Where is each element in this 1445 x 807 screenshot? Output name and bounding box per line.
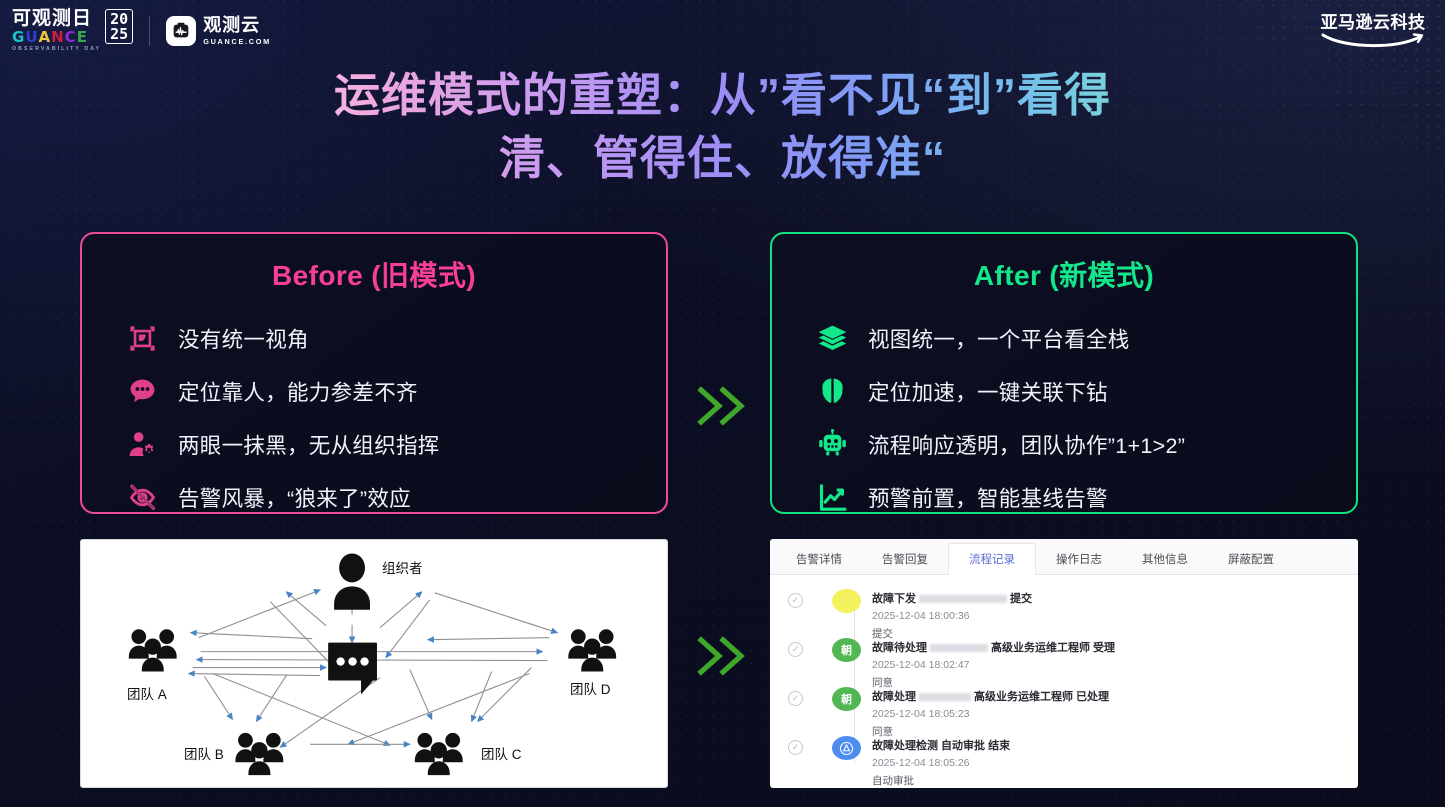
diagram-label-organizer: 组织者 (382, 557, 423, 577)
list-item-label: 视图统一，一个平台看全栈 (868, 323, 1130, 354)
alert-detail-tabs[interactable]: 告警详情 告警回复 流程记录 操作日志 其他信息 屏蔽配置 (770, 539, 1358, 575)
avatar (832, 736, 861, 760)
timeline-item-title: 故障待处理高级业务运维工程师 受理 (872, 639, 1115, 655)
timeline-item-time: 2025-12-04 18:02:47 (872, 659, 1115, 671)
team-communication-diagram: 组织者 团队 A 团队 B 团队 C 团队 D (80, 539, 668, 788)
before-card: Before (旧模式) 没有统一视角 (80, 232, 668, 514)
brand-letter-n: N (51, 30, 64, 45)
tab-process-records[interactable]: 流程记录 (948, 543, 1036, 575)
tab-mute-config[interactable]: 屏蔽配置 (1208, 544, 1294, 574)
timeline-title-pre: 故障下发 (872, 593, 916, 605)
list-item: 定位加速，一键关联下钻 (816, 365, 1356, 418)
avatar: 朝 (832, 638, 861, 662)
page-title-line2: 清、管得住、放得准“ (120, 127, 1325, 190)
timeline-item-time: 2025-12-04 18:00:36 (872, 610, 1032, 622)
chat-bubble-icon (126, 375, 178, 408)
timeline-item: ✓ 朝 故障待处理高级业务运维工程师 受理 2025-12-04 18:02:4… (832, 639, 1358, 688)
list-item: 没有统一视角 (126, 312, 666, 365)
diagram-label-team-d: 团队 D (570, 678, 611, 698)
observability-day-logo: 可观测日 G U A N C E OBSERVABILITY DAY 20 25 (12, 9, 133, 52)
brand-letter-a: A (39, 30, 51, 45)
check-circle-icon: ✓ (788, 642, 803, 657)
after-card-title: After (新模式) (772, 254, 1356, 294)
list-item-label: 流程响应透明，团队协作”1+1>2” (868, 429, 1185, 460)
timeline-title-post: 高级业务运维工程师 已处理 (974, 691, 1109, 703)
event-year-badge: 20 25 (105, 9, 133, 44)
list-item: 两眼一抹黑，无从组织指挥 (126, 418, 666, 471)
list-item-label: 告警风暴，“狼来了”效应 (178, 482, 411, 513)
aws-smile-icon (1317, 32, 1429, 50)
list-item: 流程响应透明，团队协作”1+1>2” (816, 418, 1356, 471)
double-chevron-right-icon (688, 375, 752, 437)
page-title: 运维模式的重塑：从”看不见“到”看得 清、管得住、放得准“ (0, 64, 1445, 191)
guance-mark-icon (166, 16, 196, 46)
redacted-name (930, 644, 988, 652)
timeline-item-time: 2025-12-04 18:05:26 (872, 757, 1010, 769)
diagram-svg (81, 540, 667, 788)
list-item: 告警风暴，“狼来了”效应 (126, 471, 666, 524)
aws-china-logo: 亚马逊云科技 (1317, 14, 1429, 55)
list-item: 定位靠人，能力参差不齐 (126, 365, 666, 418)
timeline-title-pre: 故障待处理 (872, 642, 927, 654)
list-item-label: 两眼一抹黑，无从组织指挥 (178, 429, 440, 460)
guance-logo-en: GUANCE.COM (203, 37, 271, 46)
before-card-list: 没有统一视角 定位靠人，能力参差不齐 (82, 312, 666, 524)
list-item-label: 定位加速，一键关联下钻 (868, 376, 1108, 407)
event-year-bottom: 25 (110, 27, 128, 42)
timeline-title-pre: 故障处理 (872, 691, 916, 703)
timeline-item-title: 故障处理检测 自动审批 结束 (872, 737, 1010, 753)
auto-approve-icon (838, 740, 855, 757)
brand-letter-g: G (12, 30, 24, 45)
redacted-name (919, 595, 1007, 603)
before-card-title: Before (旧模式) (82, 254, 666, 294)
timeline-item-action: 自动审批 (872, 773, 1010, 788)
eye-off-icon (126, 481, 178, 514)
tab-operation-logs[interactable]: 操作日志 (1036, 544, 1122, 574)
brain-icon (816, 375, 868, 408)
check-circle-icon: ✓ (788, 593, 803, 608)
aws-logo-cn: 亚马逊云科技 (1317, 14, 1429, 31)
timeline-item: ✓ 故障下发提交 2025-12-04 18:00:36 提交 (832, 590, 1358, 639)
tab-alert-details[interactable]: 告警详情 (776, 544, 862, 574)
avatar (832, 589, 861, 613)
event-logo-brand-letters: G U A N C E (12, 30, 101, 45)
check-circle-icon: ✓ (788, 691, 803, 706)
logo-divider (149, 16, 150, 46)
timeline-item: ✓ 朝 故障处理高级业务运维工程师 已处理 2025-12-04 18:05:2… (832, 688, 1358, 737)
check-circle-icon: ✓ (788, 740, 803, 755)
robot-icon (816, 428, 868, 461)
alert-detail-screenshot: 告警详情 告警回复 流程记录 操作日志 其他信息 屏蔽配置 ✓ 故障下发提交 2… (770, 539, 1358, 788)
page-title-line1: 运维模式的重塑：从”看不见“到”看得 (334, 69, 1111, 121)
diagram-label-team-b: 团队 B (184, 743, 224, 763)
timeline-item-title: 故障下发提交 (872, 590, 1032, 606)
slide-header: 可观测日 G U A N C E OBSERVABILITY DAY 20 25 (0, 0, 1445, 62)
chat-bubble-icon (328, 643, 377, 695)
list-item-label: 预警前置，智能基线告警 (868, 482, 1108, 513)
frame-crop-icon (126, 322, 178, 355)
brand-letter-e: E (77, 30, 87, 45)
after-card-list: 视图统一，一个平台看全栈 定位加速，一键关联下钻 (772, 312, 1356, 524)
double-chevron-right-icon (688, 625, 752, 687)
slide-background: 可观测日 G U A N C E OBSERVABILITY DAY 20 25 (0, 0, 1445, 807)
brand-letter-c: C (65, 30, 76, 45)
after-card: After (新模式) 视图统一，一个平台看全栈 (770, 232, 1358, 514)
avatar: 朝 (832, 687, 861, 711)
list-item-label: 没有统一视角 (178, 323, 309, 354)
timeline-item-title: 故障处理高级业务运维工程师 已处理 (872, 688, 1109, 704)
brand-letter-u: U (25, 30, 37, 45)
list-item: 视图统一，一个平台看全栈 (816, 312, 1356, 365)
timeline-item-time: 2025-12-04 18:05:23 (872, 708, 1109, 720)
person-icon (334, 553, 370, 609)
redacted-name (919, 693, 971, 701)
process-timeline: ✓ 故障下发提交 2025-12-04 18:00:36 提交 ✓ 朝 故障待处… (770, 575, 1358, 786)
tab-other-info[interactable]: 其他信息 (1122, 544, 1208, 574)
event-logo-subtitle: OBSERVABILITY DAY (12, 47, 101, 52)
user-gear-icon (126, 428, 178, 461)
guance-logo: 观测云 GUANCE.COM (166, 16, 271, 46)
diagram-label-team-c: 团队 C (481, 743, 522, 763)
line-chart-icon (816, 481, 868, 514)
diagram-label-team-a: 团队 A (127, 683, 167, 703)
timeline-title-post: 提交 (1010, 593, 1032, 605)
guance-logo-cn: 观测云 (203, 16, 271, 34)
layers-icon (816, 322, 868, 355)
timeline-title-post: 高级业务运维工程师 受理 (991, 642, 1115, 654)
timeline-item: ✓ 故障处理检测 自动审批 结束 2025-12-04 18:05:26 自动审… (832, 737, 1358, 786)
event-logo-cn: 可观测日 (12, 9, 101, 28)
list-item: 预警前置，智能基线告警 (816, 471, 1356, 524)
tab-alert-replies[interactable]: 告警回复 (862, 544, 948, 574)
list-item-label: 定位靠人，能力参差不齐 (178, 376, 418, 407)
event-logo-group: 可观测日 G U A N C E OBSERVABILITY DAY 20 25 (12, 9, 271, 52)
